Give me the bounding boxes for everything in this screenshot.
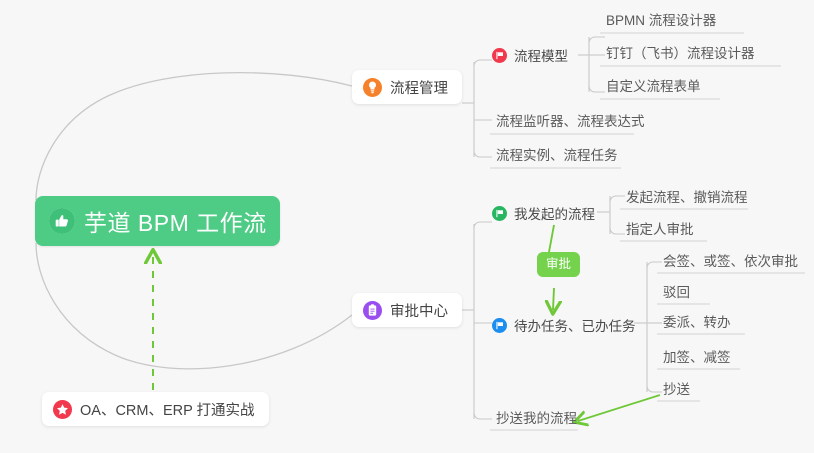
- branch-label: 流程管理: [390, 77, 448, 98]
- flag-icon: [492, 318, 507, 333]
- flag-icon: [492, 206, 507, 221]
- root-label: 芋道 BPM 工作流: [84, 204, 267, 238]
- leaf-delegate-transfer[interactable]: 委派、转办: [657, 314, 737, 335]
- leaf-process-listener-expression[interactable]: 流程监听器、流程表达式: [490, 113, 651, 134]
- leaf-cc[interactable]: 抄送: [657, 381, 696, 402]
- node-label: 流程模型: [514, 45, 568, 65]
- leaf-start-cancel-process[interactable]: 发起流程、撤销流程: [620, 189, 754, 210]
- node-my-started-processes[interactable]: 我发起的流程: [492, 203, 595, 227]
- node-todo-done-tasks[interactable]: 待办任务、已办任务: [492, 315, 636, 339]
- clipboard-icon: [363, 301, 382, 320]
- cc-arrow-line: [578, 395, 660, 421]
- branch-node-approval-center[interactable]: 审批中心: [352, 293, 462, 327]
- thumbs-up-icon: [49, 208, 75, 234]
- star-icon: [53, 400, 72, 419]
- root-node[interactable]: 芋道 BPM 工作流: [35, 196, 280, 246]
- leaf-dingtalk-designer[interactable]: 钉钉（飞书）流程设计器: [600, 45, 761, 66]
- leaf-process-instance-task[interactable]: 流程实例、流程任务: [490, 147, 624, 168]
- leaf-custom-form[interactable]: 自定义流程表单: [600, 78, 707, 99]
- aside-node-label: OA、CRM、ERP 打通实战: [80, 399, 255, 420]
- badge-arrow-upper: [549, 225, 554, 252]
- leaf-designated-approver[interactable]: 指定人审批: [620, 221, 700, 242]
- badge-arrow-lower: [553, 288, 554, 310]
- approval-center-bracket: [462, 222, 492, 419]
- node-label: 我发起的流程: [514, 203, 595, 223]
- node-label: 待办任务、已办任务: [514, 315, 636, 335]
- lightbulb-icon: [363, 78, 382, 97]
- leaf-bpmn-designer[interactable]: BPMN 流程设计器: [600, 12, 722, 33]
- aside-node-integration-practice[interactable]: OA、CRM、ERP 打通实战: [42, 392, 269, 426]
- mindmap-canvas: 芋道 BPM 工作流 流程管理 流程模型 BPMN 流程设计器 钉钉（飞书）流程…: [0, 0, 814, 453]
- leaf-reject[interactable]: 驳回: [657, 284, 696, 305]
- leaf-cc-my-process[interactable]: 抄送我的流程: [490, 410, 583, 431]
- curve-to-process-management: [36, 73, 352, 200]
- curve-to-approval-center: [36, 243, 352, 369]
- node-process-model[interactable]: 流程模型: [492, 45, 568, 69]
- cc-annotation-arrow: [578, 395, 660, 421]
- flag-icon: [492, 48, 507, 63]
- leaf-add-remove-sign[interactable]: 加签、减签: [657, 349, 737, 370]
- branch-label: 审批中心: [390, 300, 448, 321]
- branch-node-process-management[interactable]: 流程管理: [352, 70, 462, 104]
- annotation-badge-approval[interactable]: 审批: [537, 252, 580, 277]
- leaf-countersign-modes[interactable]: 会签、或签、依次审批: [657, 253, 804, 274]
- process-management-bracket: [462, 60, 492, 157]
